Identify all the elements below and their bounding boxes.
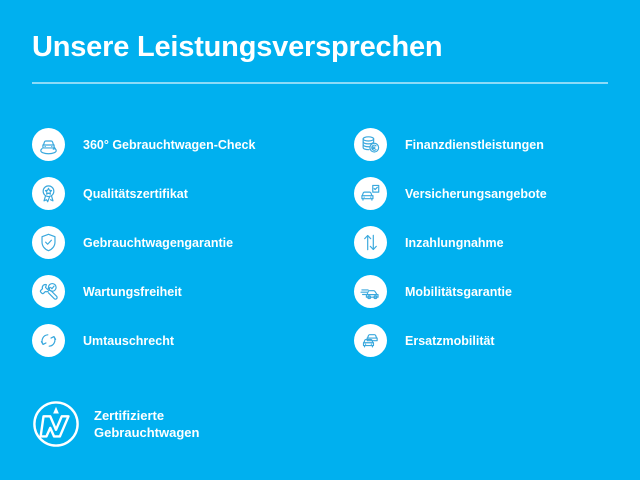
header: Unsere Leistungsversprechen [32, 30, 608, 84]
page-title: Unsere Leistungsversprechen [32, 30, 608, 64]
feature-label: Versicherungsangebote [405, 186, 547, 202]
feature-label: Gebrauchtwagengarantie [83, 235, 233, 251]
exchange-arrows-icon [32, 324, 65, 357]
quality-seal-icon [32, 177, 65, 210]
feature-column-left: 360° Gebrauchtwagen-Check Qualitätszerti… [0, 120, 328, 365]
feature-column-right: Finanzdienstleistungen Versicherungsange… [328, 120, 640, 365]
promise-poster: Unsere Leistungsversprechen 360° Gebrauc [0, 0, 640, 480]
feature-item: Inzahlungnahme [354, 218, 640, 267]
car-motion-icon [354, 275, 387, 308]
up-down-arrows-icon [354, 226, 387, 259]
two-cars-icon [354, 324, 387, 357]
car-360-check-icon [32, 128, 65, 161]
header-divider [32, 82, 608, 84]
feature-item: 360° Gebrauchtwagen-Check [32, 120, 328, 169]
footer-line-1: Zertifizierte [94, 407, 199, 424]
car-document-icon [354, 177, 387, 210]
feature-label: Wartungsfreiheit [83, 284, 182, 300]
feature-label: Qualitätszertifikat [83, 186, 188, 202]
feature-label: Mobilitätsgarantie [405, 284, 512, 300]
feature-columns: 360° Gebrauchtwagen-Check Qualitätszerti… [0, 120, 640, 365]
feature-item: Finanzdienstleistungen [354, 120, 640, 169]
feature-item: Mobilitätsgarantie [354, 267, 640, 316]
feature-item: Versicherungsangebote [354, 169, 640, 218]
footer-text: Zertifizierte Gebrauchtwagen [94, 407, 199, 441]
feature-item: Ersatzmobilität [354, 316, 640, 365]
feature-item: Wartungsfreiheit [32, 267, 328, 316]
wrench-check-icon [32, 275, 65, 308]
shield-check-icon [32, 226, 65, 259]
feature-label: Inzahlungnahme [405, 235, 504, 251]
footer: Zertifizierte Gebrauchtwagen [32, 400, 199, 448]
feature-label: Finanzdienstleistungen [405, 137, 544, 153]
volkswagen-logo-icon [32, 400, 80, 448]
feature-item: Umtauschrecht [32, 316, 328, 365]
feature-label: 360° Gebrauchtwagen-Check [83, 137, 255, 153]
feature-item: Qualitätszertifikat [32, 169, 328, 218]
feature-label: Ersatzmobilität [405, 333, 495, 349]
coins-euro-icon [354, 128, 387, 161]
footer-line-2: Gebrauchtwagen [94, 424, 199, 441]
feature-label: Umtauschrecht [83, 333, 174, 349]
feature-item: Gebrauchtwagengarantie [32, 218, 328, 267]
